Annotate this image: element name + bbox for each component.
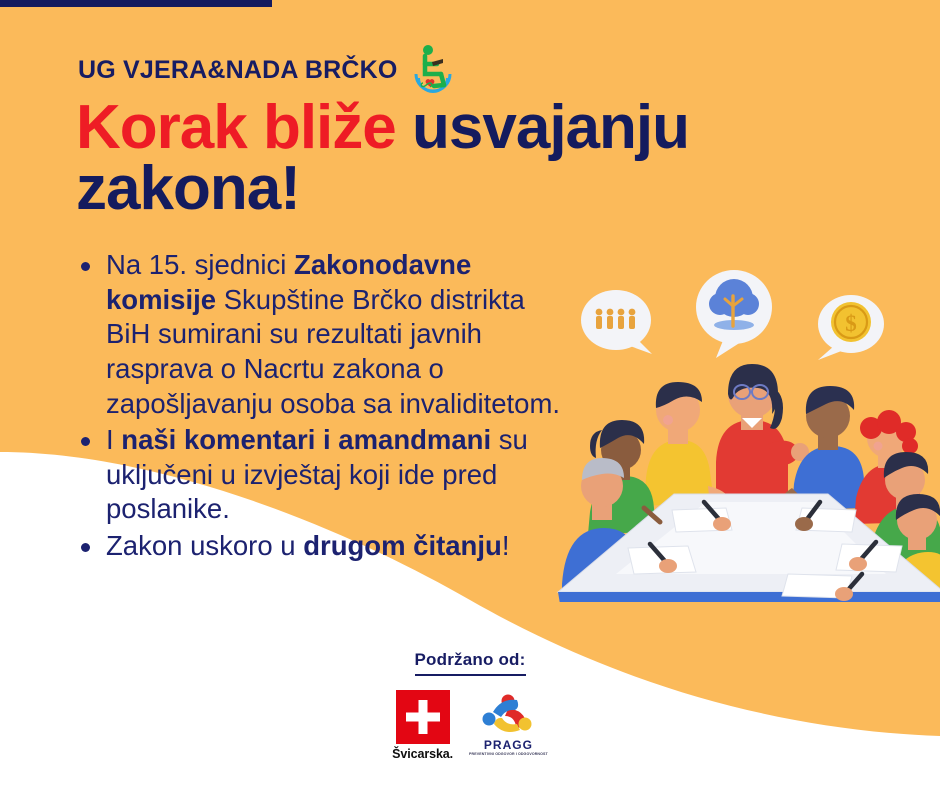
svg-text:$: $: [845, 311, 857, 336]
list-item: I naši komentari i amandmani su uključen…: [72, 423, 572, 527]
top-accent-rule: [0, 0, 272, 7]
wheelchair-accessibility-logo-icon: [410, 44, 456, 96]
organisation-name: UG VJERA&NADA BRČKO: [78, 56, 398, 85]
footer: Podržano od: Švicarska.: [0, 650, 940, 761]
swiss-cooperation-logo: Švicarska.: [392, 690, 453, 761]
speech-bubble-coin: $: [818, 295, 884, 360]
supporter-logos: Švicarska. PRAGG PREVENTIVNI ODGOVOR I O…: [392, 690, 548, 761]
pragg-logo: PRAGG PREVENTIVNI ODGOVOR I ODGOVORNOST: [469, 690, 548, 756]
meeting-table-illustration: $: [556, 262, 940, 602]
swiss-flag-icon: [396, 690, 450, 744]
list-item: Na 15. sjednici Zakonodavne komisije Sku…: [72, 248, 572, 421]
key-points-list: Na 15. sjednici Zakonodavne komisije Sku…: [72, 248, 572, 566]
pragg-logo-title: PRAGG: [484, 738, 533, 752]
page-title: Korak bliže usvajanju zakona!: [76, 98, 836, 220]
pragg-logo-subtitle: PREVENTIVNI ODGOVOR I ODGOVORNOST: [469, 752, 548, 756]
speech-bubble-people: [581, 290, 652, 354]
list-item: Zakon uskoro u drugom čitanju!: [72, 529, 572, 564]
poster-canvas: UG VJERA&NADA BRČKO Korak bliže usvajanj…: [0, 0, 940, 788]
speech-bubble-tree: [696, 270, 772, 358]
pragg-people-circle-icon: [479, 690, 537, 736]
organisation-header: UG VJERA&NADA BRČKO: [78, 44, 456, 96]
supported-by-label: Podržano od:: [415, 650, 526, 676]
swiss-logo-caption: Švicarska.: [392, 747, 453, 761]
headline-accent: Korak bliže: [76, 93, 396, 162]
